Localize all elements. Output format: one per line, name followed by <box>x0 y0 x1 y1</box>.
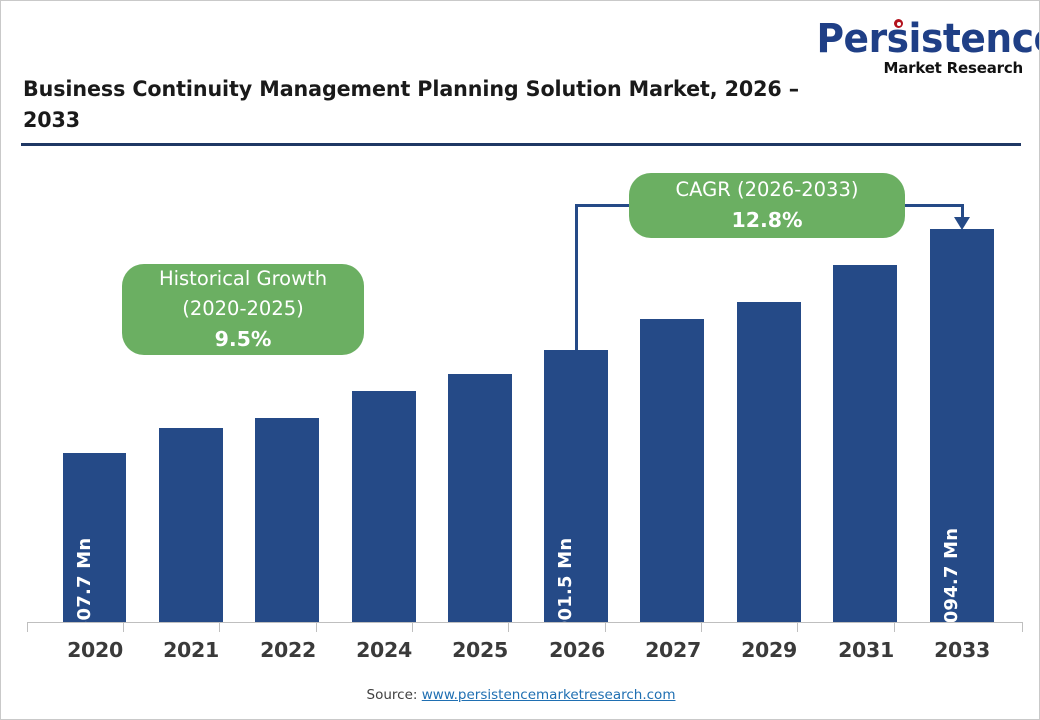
cagr-arrow-icon <box>954 217 970 230</box>
source-link[interactable]: www.persistencemarketresearch.com <box>422 687 676 703</box>
bar-2021 <box>159 428 223 623</box>
x-axis-label-2021: 2021 <box>141 638 241 662</box>
bar-2020: US$ 507.7 Mn <box>63 453 126 623</box>
x-axis-label-2026: 2026 <box>527 638 627 662</box>
bar-2033: US$ 2,094.7 Mn <box>930 229 994 623</box>
bar-2027 <box>640 319 704 623</box>
x-axis-line <box>27 622 1023 623</box>
x-axis-tick <box>605 623 606 632</box>
x-axis-tick <box>797 623 798 632</box>
cagr-value: 12.8% <box>731 205 802 236</box>
x-axis-tick <box>894 623 895 632</box>
x-axis-label-2024: 2024 <box>334 638 434 662</box>
x-axis-label-2031: 2031 <box>816 638 916 662</box>
x-axis-tick <box>701 623 702 632</box>
chart-infographic: Persistence Market Research Business Con… <box>0 0 1040 720</box>
bar-2031 <box>833 265 897 623</box>
x-axis-label-2033: 2033 <box>912 638 1012 662</box>
x-axis-label-2020: 2020 <box>45 638 145 662</box>
x-axis-tick <box>219 623 220 632</box>
x-axis-tick <box>27 623 28 632</box>
bar-2029 <box>737 302 801 623</box>
x-axis-tick <box>508 623 509 632</box>
x-axis-tick <box>412 623 413 632</box>
x-axis-label-2029: 2029 <box>719 638 819 662</box>
x-axis-tick <box>123 623 124 632</box>
bar-2022 <box>255 418 319 623</box>
x-axis-label-2027: 2027 <box>623 638 723 662</box>
x-axis-label-2022: 2022 <box>238 638 338 662</box>
bar-chart-plot: US$ 507.7 Mn US$ 901.5 Mn US$ 2,094.7 Mn… <box>1 1 1040 720</box>
source-line: Source: www.persistencemarketresearch.co… <box>1 687 1040 703</box>
bar-2025 <box>448 374 512 623</box>
cagr-connector-left <box>575 204 578 353</box>
historical-growth-title: Historical Growth <box>159 264 327 294</box>
cagr-callout: CAGR (2026-2033) 12.8% <box>629 173 905 238</box>
source-label: Source: <box>367 687 418 703</box>
historical-growth-period: (2020-2025) <box>182 294 304 324</box>
bar-2024 <box>352 391 416 623</box>
x-axis-tick <box>316 623 317 632</box>
x-axis-label-2025: 2025 <box>430 638 530 662</box>
bar-value-label-2033: US$ 2,094.7 Mn <box>941 528 962 690</box>
historical-growth-value: 9.5% <box>215 324 272 355</box>
bar-2026: US$ 901.5 Mn <box>544 350 608 623</box>
cagr-title: CAGR (2026-2033) <box>676 175 859 205</box>
historical-growth-callout: Historical Growth (2020-2025) 9.5% <box>122 264 364 355</box>
x-axis-tick <box>1022 623 1023 632</box>
